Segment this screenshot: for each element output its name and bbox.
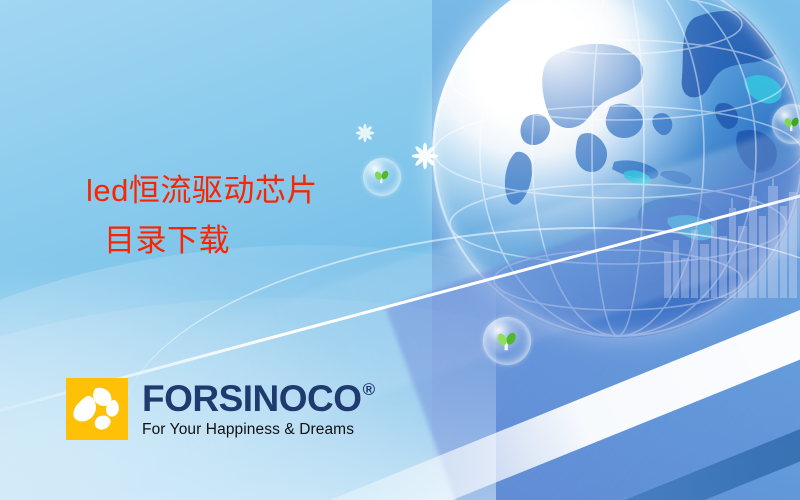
logo-text-block: FORSINOCO ® For Your Happiness & Dreams xyxy=(142,380,375,439)
headline: led恒流驱动芯片 目录下载 xyxy=(86,166,416,266)
company-logo: FORSINOCO ® For Your Happiness & Dreams xyxy=(66,378,375,440)
logo-tagline: For Your Happiness & Dreams xyxy=(142,421,375,439)
headline-line-2: 目录下载 xyxy=(86,216,416,266)
headline-line-1: led恒流驱动芯片 xyxy=(86,166,416,216)
logo-wordmark: FORSINOCO ® xyxy=(142,380,375,417)
city-skyline-icon xyxy=(660,178,800,298)
registered-trademark-symbol: ® xyxy=(363,381,375,398)
pinwheel-flower-icon xyxy=(66,378,128,440)
logo-wordmark-text: FORSINOCO xyxy=(142,380,362,417)
flower-icon xyxy=(354,122,376,144)
bubble-sprout-icon xyxy=(483,317,531,365)
promo-banner: led恒流驱动芯片 目录下载 FORSINOCO ® For Your Happ… xyxy=(0,0,800,500)
